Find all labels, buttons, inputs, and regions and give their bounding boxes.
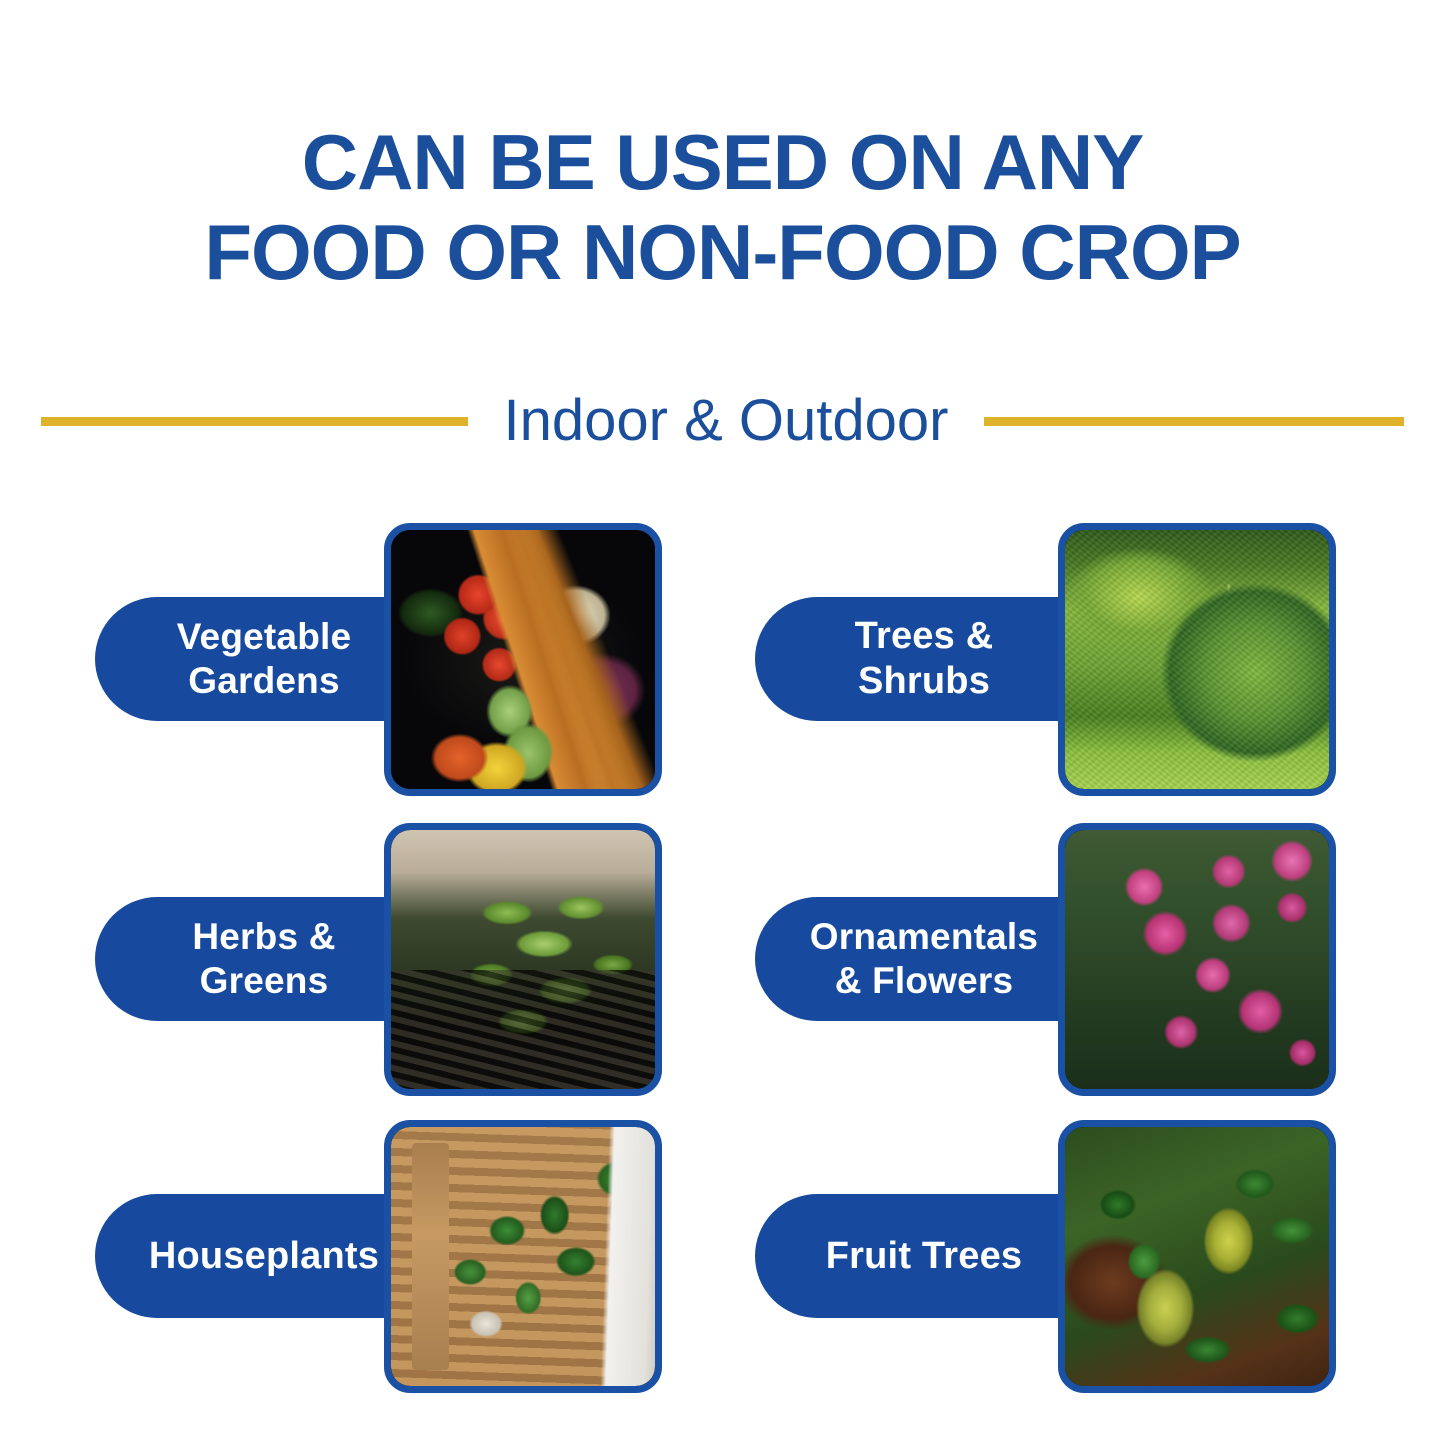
page-title: CAN BE USED ON ANY FOOD OR NON-FOOD CROP bbox=[0, 118, 1445, 297]
trimmed-shrub-photo bbox=[1065, 530, 1329, 789]
gold-divider-left bbox=[41, 417, 468, 426]
category-label-pill: Herbs & Greens bbox=[95, 897, 425, 1021]
herb-seedlings-photo bbox=[391, 830, 655, 1089]
page-title-line-2: FOOD OR NON-FOOD CROP bbox=[0, 208, 1445, 298]
infographic-page: CAN BE USED ON ANY FOOD OR NON-FOOD CROP… bbox=[0, 0, 1445, 1445]
category-label-pill: Ornamentals & Flowers bbox=[755, 897, 1085, 1021]
category-photo-card bbox=[384, 823, 662, 1096]
category-label-pill: Trees & Shrubs bbox=[755, 597, 1085, 721]
category-photo-card bbox=[1058, 1120, 1336, 1393]
category-item-fruit-trees[interactable]: Fruit Trees bbox=[675, 1120, 1335, 1393]
category-label-pill: Fruit Trees bbox=[755, 1194, 1085, 1318]
vegetable-garden-photo bbox=[391, 530, 655, 789]
pink-chrysanthemums-photo bbox=[1065, 830, 1329, 1089]
page-subtitle: Indoor & Outdoor bbox=[498, 392, 955, 450]
category-photo-card bbox=[384, 523, 662, 796]
category-photo-card bbox=[1058, 823, 1336, 1096]
subtitle-row: Indoor & Outdoor bbox=[0, 383, 1445, 459]
category-item-houseplants[interactable]: Houseplants bbox=[0, 1120, 660, 1393]
category-item-herbs-greens[interactable]: Herbs & Greens bbox=[0, 823, 660, 1096]
pear-tree-photo bbox=[1065, 1127, 1329, 1386]
category-photo-card bbox=[1058, 523, 1336, 796]
category-label-text: Houseplants bbox=[149, 1234, 379, 1279]
category-label-text: Herbs & Greens bbox=[192, 915, 335, 1002]
category-grid: Vegetable Gardens Trees & Shrubs Herbs &… bbox=[0, 523, 1445, 1403]
gold-divider-right bbox=[984, 417, 1404, 426]
category-photo-card bbox=[384, 1120, 662, 1393]
category-label-text: Vegetable Gardens bbox=[177, 615, 352, 702]
category-label-text: Fruit Trees bbox=[826, 1234, 1023, 1279]
category-item-ornamentals-flowers[interactable]: Ornamentals & Flowers bbox=[675, 823, 1335, 1096]
category-item-vegetable-gardens[interactable]: Vegetable Gardens bbox=[0, 523, 660, 796]
category-label-pill: Vegetable Gardens bbox=[95, 597, 425, 721]
category-item-trees-shrubs[interactable]: Trees & Shrubs bbox=[675, 523, 1335, 796]
indoor-houseplants-photo bbox=[391, 1127, 655, 1386]
category-label-pill: Houseplants bbox=[95, 1194, 425, 1318]
category-label-text: Trees & Shrubs bbox=[789, 614, 1059, 704]
page-title-line-1: CAN BE USED ON ANY bbox=[0, 118, 1445, 208]
category-label-text: Ornamentals & Flowers bbox=[810, 915, 1038, 1002]
